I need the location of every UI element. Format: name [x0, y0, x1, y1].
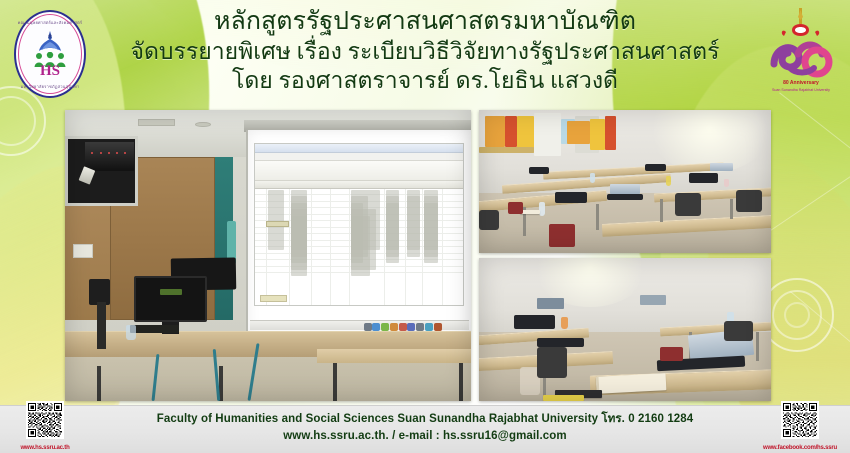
event-poster: คณะมนุษยศาสตร์และสังคมศาสตร์ HS มหาวิทยา… [0, 0, 850, 453]
keyboard [130, 325, 179, 332]
chair [537, 347, 566, 378]
qr-website-caption: www.hs.ssru.ac.th [14, 444, 76, 452]
photo-class-top: Masked graduate students working on lapt… [479, 110, 771, 253]
yellow-folder [543, 395, 584, 401]
hs-faculty-logo: คณะมนุษยศาสตร์และสังคมศาสตร์ HS มหาวิทยา… [14, 10, 86, 98]
table-leg [459, 363, 463, 401]
laptop-base [537, 338, 584, 347]
cabinet-glass [85, 142, 134, 171]
title-line-1: หลักสูตรรัฐประศาสนศาสตรมหาบัณฑิต [214, 6, 636, 37]
logo-ring-bottom-text: มหาวิทยาลัยราชภัฏสวนสุนันทา [14, 83, 86, 90]
svg-text:80 Anniversary: 80 Anniversary [783, 80, 819, 86]
indicator-dot [108, 152, 110, 154]
poster-title-block: หลักสูตรรัฐประศาสนศาสตรมหาบัณฑิต จัดบรรย… [96, 6, 754, 106]
photo-collage: Lecturer presenting statistics software … [0, 108, 850, 403]
document-camera [89, 279, 109, 305]
desk-leg [596, 204, 599, 230]
ssru-80th-anniversary-logo: 80 Anniversary Suan Sunandha Rajabhat Un… [762, 8, 840, 100]
indicator-dot [100, 152, 102, 154]
desk-leg [756, 332, 759, 361]
anniversary-emblem-icon: 80 Anniversary Suan Sunandha Rajabhat Un… [762, 8, 840, 100]
footer-line-1: Faculty of Humanities and Social Science… [100, 411, 750, 428]
presenter-monitor [134, 276, 207, 323]
photo-lecturer: Lecturer presenting statistics software … [65, 110, 471, 401]
wall-trim [479, 147, 534, 153]
spss-data-grid [255, 189, 463, 305]
spss-selected-cell [266, 221, 289, 227]
wall-panel-orange [485, 116, 505, 147]
lecturer-scene [65, 110, 471, 401]
classroom-top-scene [479, 110, 771, 253]
wall-panel-yellow-2 [590, 119, 605, 150]
monitor-brand-label [160, 289, 182, 295]
water-bottle [666, 176, 671, 186]
chair [724, 321, 753, 341]
spss-window [254, 143, 464, 306]
spss-title-bar [255, 144, 463, 154]
chair [660, 347, 683, 361]
logo-ring-top-text: คณะมนุษยศาสตร์และสังคมศาสตร์ [14, 19, 86, 26]
classroom-bottom-scene [479, 258, 771, 401]
chair [549, 224, 575, 247]
tablet-screen [537, 298, 563, 309]
spss-data-view-tab [260, 295, 287, 302]
laptop [529, 167, 549, 174]
desk-leg [730, 199, 733, 219]
laptop-screen [710, 163, 733, 171]
room-floor [65, 357, 471, 401]
notebook [520, 210, 540, 214]
side-table [317, 349, 471, 364]
water-bottle [590, 173, 595, 183]
qr-facebook[interactable]: www.facebook.com/hs.ssru [758, 401, 842, 452]
footer-line-2: www.hs.ssru.ac.th. / e-mail : hs.ssru16@… [100, 428, 750, 445]
chair [479, 210, 499, 230]
chair [736, 190, 762, 211]
wall-panel-orange-2 [567, 121, 590, 144]
laptop [645, 164, 665, 171]
wall-panel-red [505, 116, 517, 147]
bottle [561, 317, 568, 330]
laptop [514, 315, 555, 329]
qr-website[interactable]: www.hs.ssru.ac.th [14, 401, 76, 452]
title-line-2: จัดบรรยายพิเศษ เรื่อง ระเบียบวิธีวิจัยทา… [131, 37, 720, 66]
laptop-screen [610, 184, 639, 194]
water-bottle [126, 325, 136, 340]
windows-taskbar [250, 320, 469, 330]
chair [675, 193, 701, 216]
table-leg [333, 363, 337, 401]
photo-class-bottom: Two masked students with laptop and open… [479, 258, 771, 401]
ceiling-vent [138, 119, 175, 126]
svg-text:Suan Sunandha Rajabhat Univers: Suan Sunandha Rajabhat University [772, 88, 830, 92]
spss-column-headers [255, 181, 463, 189]
wall-panel-white [534, 113, 560, 156]
poster-header: คณะมนุษยศาสตร์และสังคมศาสตร์ HS มหาวิทยา… [0, 0, 850, 108]
laptop [555, 192, 587, 203]
projector-screen [246, 130, 471, 334]
qr-code-icon[interactable] [781, 401, 819, 439]
qr-facebook-caption: www.facebook.com/hs.ssru [758, 444, 842, 452]
desk-leg [660, 199, 663, 222]
indicator-dot [116, 152, 118, 154]
title-line-3: โดย รองศาสตราจารย์ ดร.โยธิน แสวงดี [232, 66, 618, 95]
logo-initials: HS [14, 63, 86, 80]
chair [508, 202, 523, 215]
poster-footer: www.hs.ssru.ac.th Faculty of Humanities … [0, 405, 850, 453]
wall-switch-plate [73, 244, 93, 259]
laptop-base [607, 194, 642, 200]
spss-menu-bar [255, 153, 463, 161]
table-leg [97, 366, 101, 401]
qr-code-icon[interactable] [26, 401, 64, 439]
camera-stand [97, 302, 105, 349]
footer-contact-block: Faculty of Humanities and Social Science… [100, 411, 750, 445]
monitor-screen [640, 295, 666, 305]
spss-toolbar [255, 161, 463, 180]
laptop [689, 173, 718, 183]
wall-panel-red-2 [605, 116, 617, 150]
water-bottle [724, 179, 729, 188]
